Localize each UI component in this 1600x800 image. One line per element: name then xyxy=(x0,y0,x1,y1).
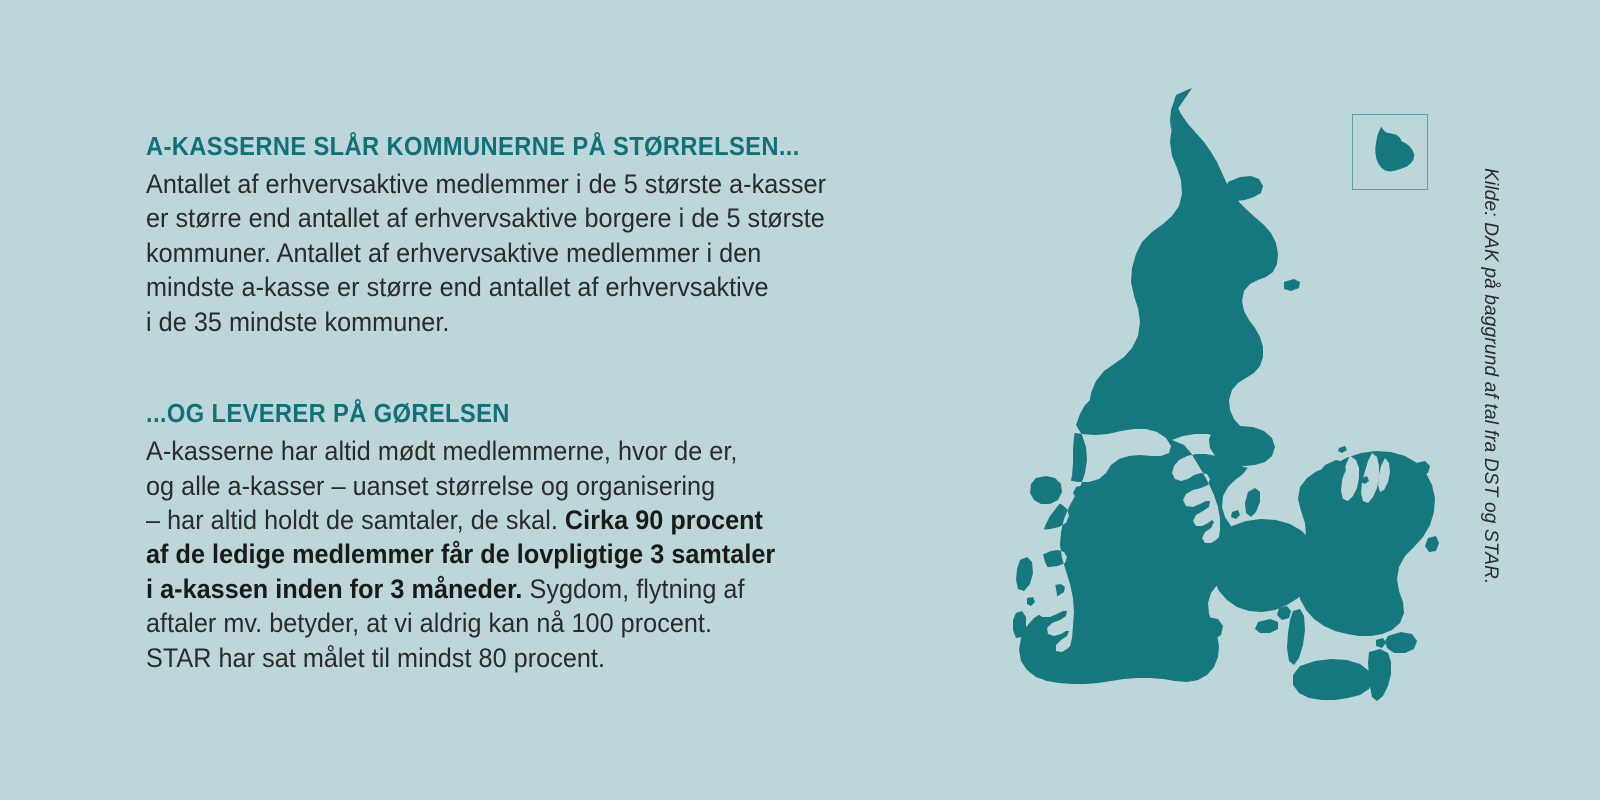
section-heading-1: A-KASSERNE SLÅR KOMMUNERNE PÅ STØRRELSEN… xyxy=(146,132,853,162)
section-body-1: Antallet af erhvervsaktive medlemmer i d… xyxy=(146,167,868,339)
section-heading-2: ...OG LEVERER PÅ GØRELSEN xyxy=(146,399,853,429)
body-line: i de 35 mindste kommuner. xyxy=(146,305,868,339)
body-line: STAR har sat målet til mindst 80 procent… xyxy=(146,641,868,675)
body-text-emphasis: af de ledige medlemmer får de lovpligtig… xyxy=(146,539,775,569)
section-body-2: A-kasserne har altid mødt medlemmerne, h… xyxy=(146,434,868,675)
body-text-emphasis: i a-kassen inden for 3 måneder. xyxy=(146,574,522,604)
tasinge-island xyxy=(1277,606,1291,620)
body-line: af de ledige medlemmer får de lovpligtig… xyxy=(146,537,868,571)
section-block-1: A-KASSERNE SLÅR KOMMUNERNE PÅ STØRRELSEN… xyxy=(146,132,906,339)
mon-island xyxy=(1385,632,1417,653)
source-credit: Kilde: DAK på baggrund af tal fra DST og… xyxy=(1479,168,1501,585)
infographic-canvas: A-KASSERNE SLÅR KOMMUNERNE PÅ STØRRELSEN… xyxy=(0,0,1600,800)
body-text-emphasis: Cirka 90 procent xyxy=(565,505,763,535)
body-text-normal: Sygdom, flytning af xyxy=(522,574,744,604)
bornholm-inset-svg xyxy=(1353,115,1427,189)
hesselo-islet xyxy=(1338,446,1347,453)
body-line: er større end antallet af erhvervsaktive… xyxy=(146,201,868,235)
bogo-islet xyxy=(1376,638,1386,648)
body-line: og alle a-kasser – uanset størrelse og o… xyxy=(146,469,868,503)
stevns-spur xyxy=(1425,536,1439,552)
body-line: kommuner. Antallet af erhvervsaktive med… xyxy=(146,236,868,270)
bornholm-inset-box xyxy=(1352,114,1428,190)
mando-islet xyxy=(1027,597,1035,606)
bornholm-island xyxy=(1375,127,1414,172)
langeland-island xyxy=(1287,609,1305,665)
text-column: A-KASSERNE SLÅR KOMMUNERNE PÅ STØRRELSEN… xyxy=(146,132,906,675)
body-line: – har altid holdt de samtaler, de skal. … xyxy=(146,503,868,537)
mors-island xyxy=(1030,476,1062,504)
endelave-islet xyxy=(1231,510,1240,519)
body-line: A-kasserne har altid mødt medlemmerne, h… xyxy=(146,434,868,468)
body-line: mindste a-kasse er større end antallet a… xyxy=(146,270,868,304)
body-text-normal: – har altid holdt de samtaler, de skal. xyxy=(146,505,565,535)
samso-island xyxy=(1245,488,1260,517)
body-line: Antallet af erhvervsaktive medlemmer i d… xyxy=(146,167,868,201)
anholt-island xyxy=(1284,279,1300,291)
laeso-island xyxy=(1225,176,1263,201)
falster-island xyxy=(1368,649,1391,701)
body-line: i a-kassen inden for 3 måneder. Sygdom, … xyxy=(146,572,868,606)
aero-island xyxy=(1255,619,1278,633)
section-block-2: ...OG LEVERER PÅ GØRELSEN A-kasserne har… xyxy=(146,399,906,675)
lolland-island xyxy=(1293,659,1372,700)
body-line: aftaler mv. betyder, at vi aldrig kan nå… xyxy=(146,606,868,640)
